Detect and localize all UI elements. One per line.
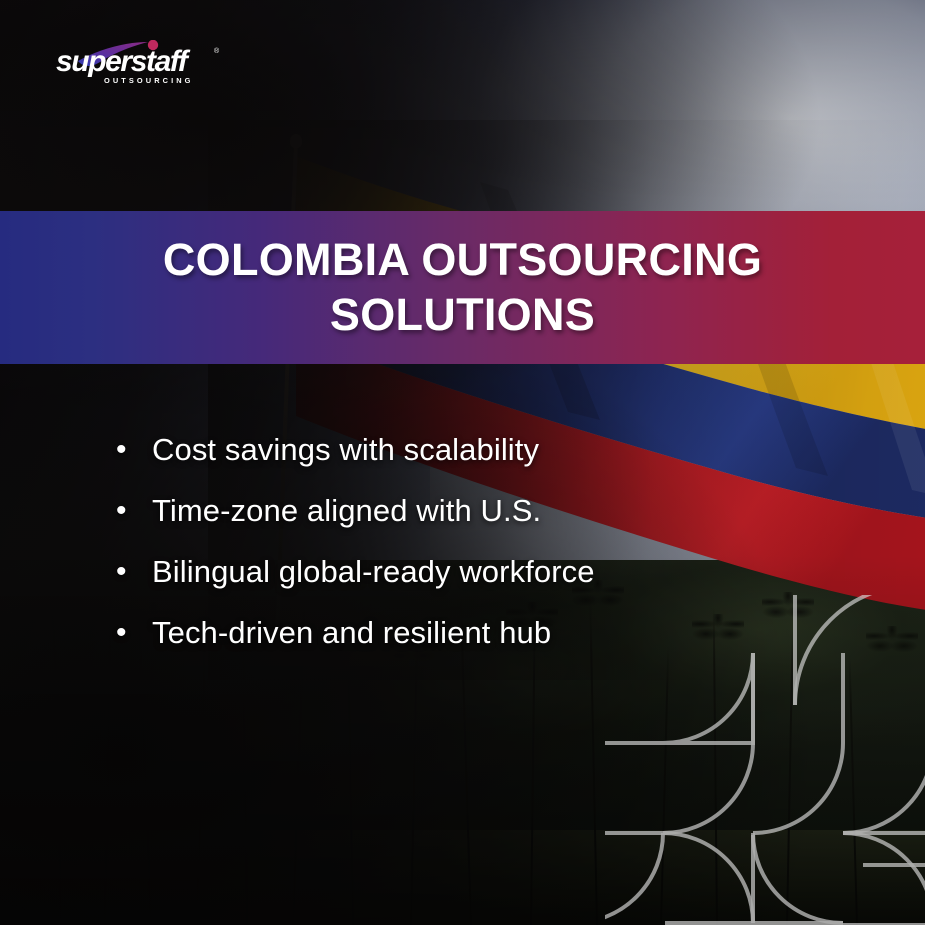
bullet-marker-icon: •	[116, 613, 152, 653]
list-item: • Cost savings with scalability	[116, 430, 816, 470]
list-item-label: Tech-driven and resilient hub	[152, 613, 551, 653]
list-item-label: Cost savings with scalability	[152, 430, 539, 470]
list-item: • Tech-driven and resilient hub	[116, 613, 816, 653]
banner-title: COLOMBIA OUTSOURCING SOLUTIONS	[83, 233, 843, 343]
logo-wordmark: superstaff	[56, 45, 191, 78]
list-item: • Time-zone aligned with U.S.	[116, 491, 816, 531]
logo-registered-mark: ®	[214, 47, 220, 55]
bullet-marker-icon: •	[116, 552, 152, 592]
poster-canvas: COLOMBIA OUTSOURCING SOLUTIONS superstaf…	[0, 0, 925, 925]
list-item-label: Time-zone aligned with U.S.	[152, 491, 541, 531]
list-item: • Bilingual global-ready workforce	[116, 552, 816, 592]
superstaff-logo[interactable]: superstaff ® OUTSOURCING	[56, 40, 231, 88]
bullet-marker-icon: •	[116, 430, 152, 470]
title-banner: COLOMBIA OUTSOURCING SOLUTIONS	[0, 211, 925, 364]
benefits-list: • Cost savings with scalability • Time-z…	[116, 430, 816, 674]
logo-tagline: OUTSOURCING	[104, 76, 194, 85]
bullet-marker-icon: •	[116, 491, 152, 531]
list-item-label: Bilingual global-ready workforce	[152, 552, 595, 592]
